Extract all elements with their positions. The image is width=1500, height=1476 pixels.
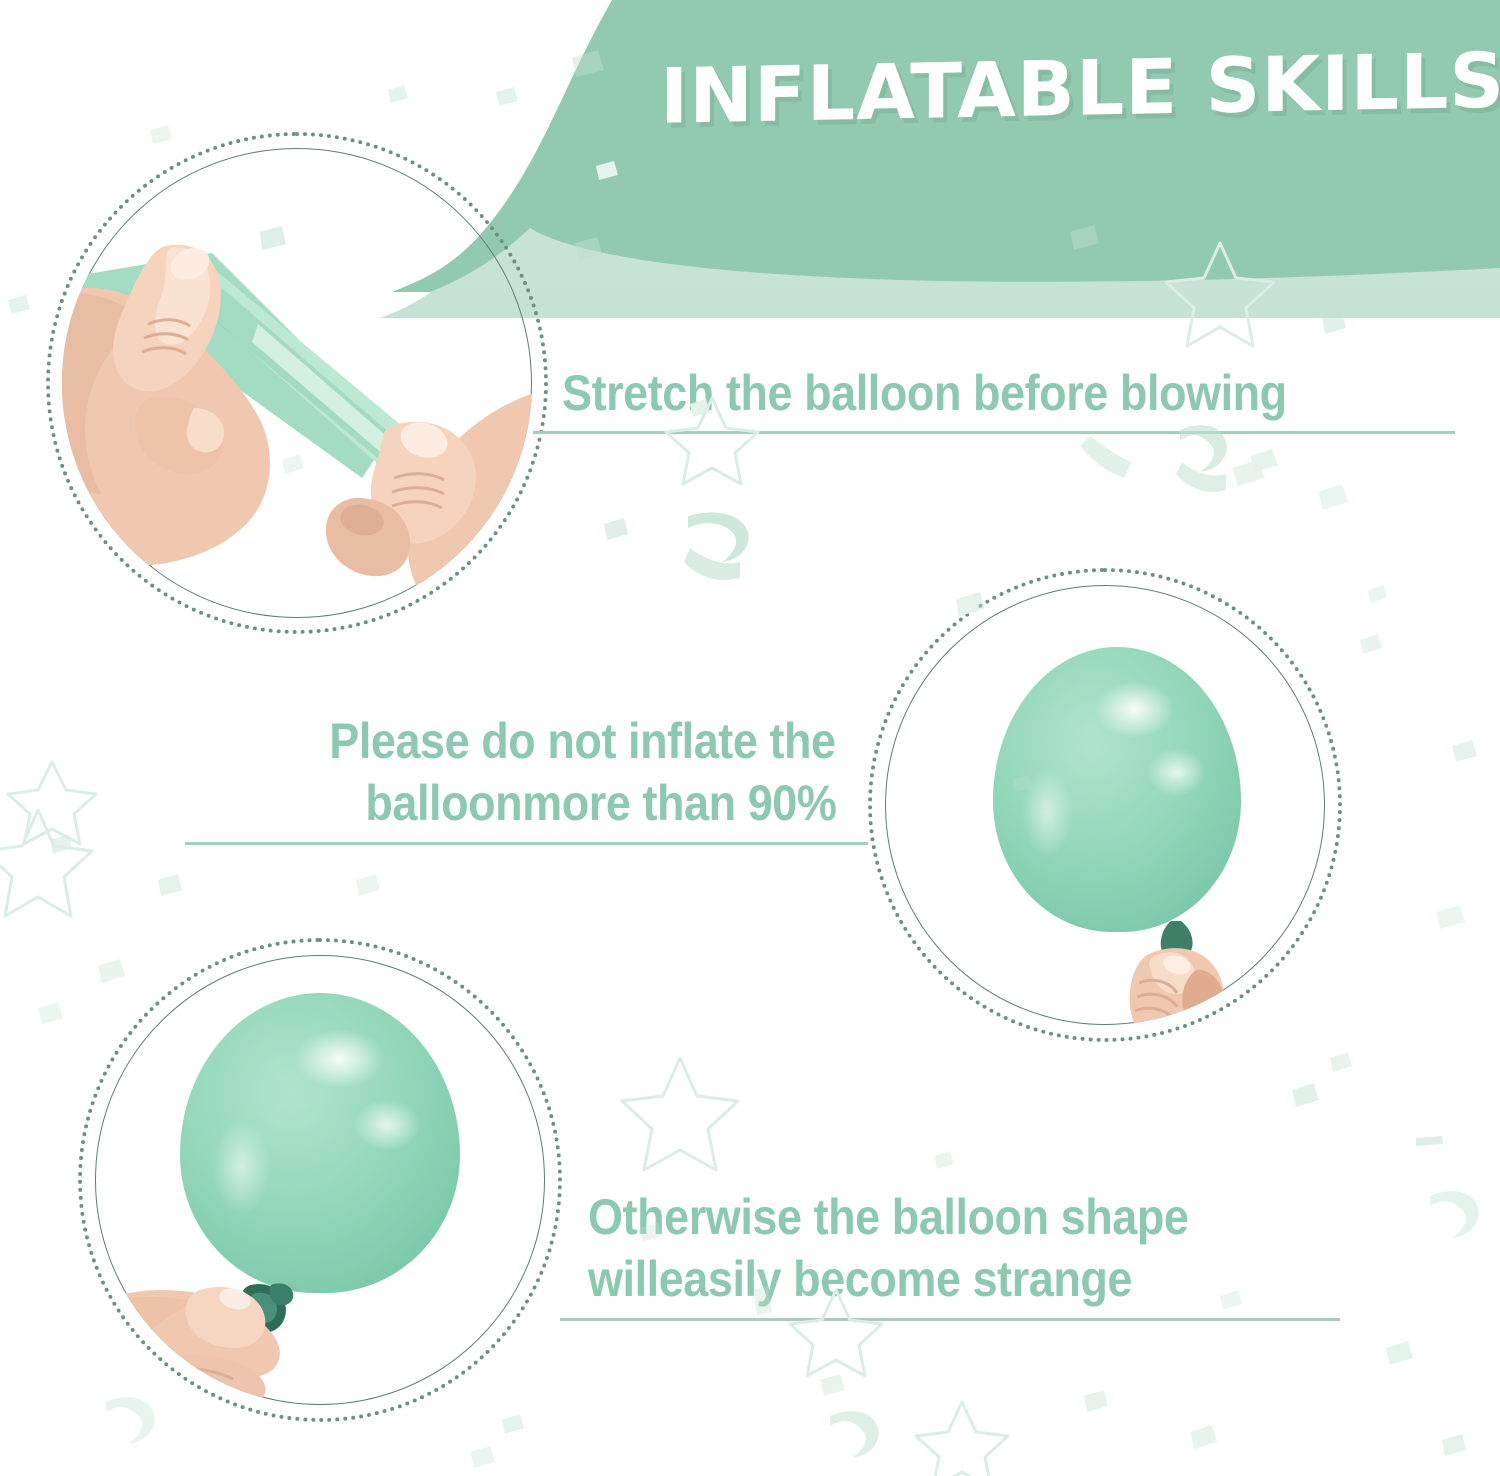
star-outline [0, 810, 92, 916]
inflated-balloon-photo [885, 585, 1325, 1025]
balloon-knot-photo [95, 955, 545, 1405]
star-outline [8, 762, 96, 844]
step-1-caption: Stretch the balloon before blowing [562, 362, 1287, 424]
page-title: INFLATABLE SKILLS [660, 36, 1470, 141]
star-outline [622, 1058, 738, 1170]
step-2-caption-line-2: balloonmore than 90% [365, 772, 836, 834]
inflatable-skills-infographic: INFLATABLE SKILLS [0, 0, 1500, 1476]
stretch-balloon-photo [62, 148, 532, 618]
step-2-rule [185, 842, 868, 845]
banner-main-layer [392, 0, 1500, 292]
step-2-photo-circle [885, 585, 1325, 1025]
step-3-caption-line-2: willeasily become strange [588, 1248, 1132, 1310]
step-3-photo-circle [95, 955, 545, 1405]
step-1-photo-circle [62, 148, 532, 618]
banner-shadow-layer [380, 0, 1500, 318]
step-3-caption-line-1: Otherwise the balloon shape [588, 1186, 1188, 1248]
step-3-rule [560, 1318, 1340, 1321]
star-outline [1166, 243, 1274, 346]
step-2-caption-line-1: Please do not inflate the [330, 710, 836, 772]
banner-sweep-layer [430, 228, 1500, 292]
star-outline [916, 1402, 1008, 1476]
step-1-rule [533, 431, 1455, 434]
